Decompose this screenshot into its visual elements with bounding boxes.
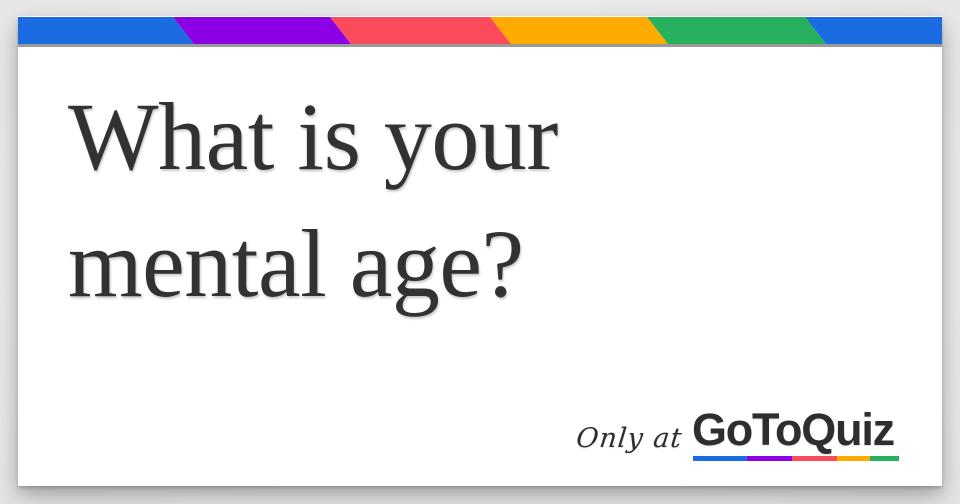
quiz-title-card: What is your mental age? Only at GoToQui… <box>18 16 942 486</box>
rainbow-top-bar <box>18 17 942 44</box>
logo-underline-segment-blue <box>693 456 747 461</box>
top-bar-segment-blue <box>18 17 194 44</box>
brand-footer: Only at GoToQuiz <box>576 407 894 461</box>
gotoquiz-logo[interactable]: GoToQuiz <box>692 407 894 461</box>
page-canvas: What is your mental age? Only at GoToQui… <box>0 0 960 504</box>
page-title: What is your mental age? <box>68 74 908 327</box>
top-bar-segment-red <box>330 17 511 44</box>
top-bar-segment-green <box>647 17 826 44</box>
logo-underline-segment-purple <box>747 456 792 461</box>
logo-underline-segment-green <box>870 456 899 461</box>
gotoquiz-wordmark: GoToQuiz <box>692 404 894 455</box>
page-title-line-2: mental age? <box>68 201 908 328</box>
top-bar-divider <box>18 44 942 47</box>
top-bar-segment-blue2 <box>805 17 942 44</box>
logo-underline-segment-orange <box>837 456 870 461</box>
gotoquiz-rainbow-underline <box>693 456 899 461</box>
logo-underline-segment-red <box>792 456 837 461</box>
top-bar-segment-orange <box>490 17 668 44</box>
page-title-line-1: What is your <box>68 74 908 201</box>
brand-prefix-label: Only at <box>574 423 684 461</box>
top-bar-segment-purple <box>173 17 351 44</box>
